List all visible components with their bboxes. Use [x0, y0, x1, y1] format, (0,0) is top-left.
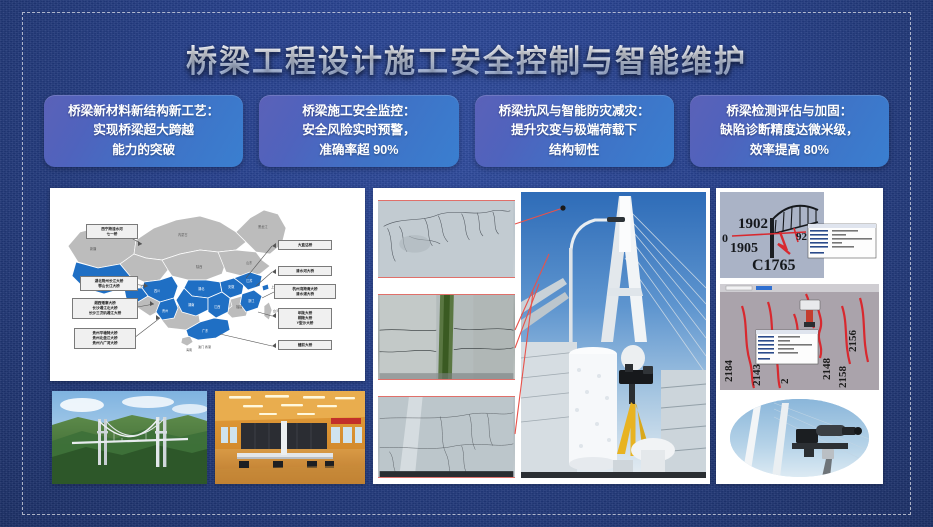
card-wind-disaster[interactable]: 桥梁抗风与智能防灾减灾： 提升灾变与极端荷载下 结构韧性: [475, 95, 674, 167]
crack-tile-2-svg: [378, 295, 515, 379]
svg-text:江苏: 江苏: [246, 278, 253, 283]
svg-text:广东: 广东: [202, 328, 208, 333]
svg-text:1902: 1902: [738, 216, 768, 232]
svg-text:贵州: 贵州: [162, 308, 168, 313]
measurement-tile-2-svg: 2184 2143 2 2148 2156 2158: [720, 284, 879, 390]
svg-text:2184: 2184: [723, 360, 735, 383]
card-wind-disaster-text: 桥梁抗风与智能防灾减灾： 提升灾变与极端荷载下 结构韧性: [499, 102, 650, 159]
summary-cards-row: 桥梁新材料新结构新工艺： 实现桥梁超大跨越 能力的突破 桥梁施工安全监控： 安全…: [44, 95, 889, 167]
crack-tile-3: [378, 396, 515, 478]
card-inspection-text: 桥梁检测评估与加固： 缺陷诊断精度达微米级， 效率提高 80%: [720, 102, 859, 159]
svg-text:湖北: 湖北: [198, 286, 205, 291]
callout-hangzhouwan: 杭州湾跨海大桥 清水浦大桥: [274, 284, 336, 299]
content-area: 新疆 内蒙古 黑龙江 陕西 山东 福建 西藏 四川 湖北 湖南 贵州 广东: [50, 188, 883, 484]
svg-text:2143: 2143: [751, 364, 763, 387]
cable-stayed-pylon-photo: [521, 192, 706, 478]
callout-changsha: 湘西矮寨大桥 长沙湘江北大桥 长沙三汊矶湘江大桥: [72, 298, 138, 319]
lab-photo-svg: [215, 391, 365, 484]
svg-text:2158: 2158: [837, 366, 849, 389]
svg-text:湖南: 湖南: [188, 302, 194, 307]
card-inspection[interactable]: 桥梁检测评估与加固： 缺陷诊断精度达微米级， 效率提高 80%: [690, 95, 889, 167]
svg-text:福建: 福建: [236, 304, 243, 309]
pylon-photo-svg: [521, 192, 706, 478]
svg-text:陕西: 陕西: [196, 264, 202, 269]
svg-text:92: 92: [796, 231, 808, 243]
callout-dazhi: 大直沽桥: [278, 240, 332, 250]
structural-test-hall-photo: [215, 391, 365, 484]
callout-nianpan: 年陡大桥 桐陵大桥 Y型沙大桥: [278, 308, 332, 329]
crack-tiles-column: [378, 196, 518, 478]
svg-text:江西: 江西: [214, 304, 220, 309]
svg-text:浙江: 浙江: [248, 298, 255, 303]
bridge-camera-oval-photo: [730, 399, 869, 477]
svg-text:山东: 山东: [246, 260, 252, 265]
slide-root: 桥梁工程设计施工安全控制与智能维护 桥梁新材料新结构新工艺： 实现桥梁超大跨越 …: [0, 0, 933, 527]
measurement-tile-1: 1902 0 1905 C1765 92: [720, 192, 879, 278]
measurement-tile-1-svg: 1902 0 1905 C1765 92: [720, 192, 879, 278]
crack-tile-2: [378, 294, 515, 380]
svg-text:四川: 四川: [154, 289, 160, 293]
card-construction-safety-text: 桥梁施工安全监控： 安全风险实时预警， 准确率超 90%: [302, 102, 415, 159]
svg-text:2: 2: [779, 378, 791, 384]
svg-text:C1765: C1765: [752, 257, 796, 274]
aixhai-suspension-bridge-photo: [52, 391, 207, 484]
card-materials-text: 桥梁新材料新结构新工艺： 实现桥梁超大跨越 能力的突破: [68, 102, 219, 159]
svg-text:安徽: 安徽: [228, 284, 235, 289]
svg-text:0: 0: [722, 231, 728, 245]
crack-detection-panel: [373, 188, 710, 484]
china-bridge-distribution-map: 新疆 内蒙古 黑龙江 陕西 山东 福建 西藏 四川 湖北 湖南 贵州 广东: [50, 188, 365, 381]
callout-ximen: 鳍前大桥: [278, 340, 332, 350]
svg-text:2156: 2156: [847, 330, 859, 353]
map-inner: 新疆 内蒙古 黑龙江 陕西 山东 福建 西藏 四川 湖北 湖南 贵州 广东: [50, 188, 365, 381]
callout-guizhou: 贵州平塘特大桥 贵州北盘江大桥 贵州六广河大桥: [74, 328, 136, 349]
svg-text:内蒙古: 内蒙古: [178, 232, 188, 237]
defect-measurement-panel: 1902 0 1905 C1765 92: [716, 188, 883, 484]
bridge-photo-svg: [52, 391, 207, 484]
page-title: 桥梁工程设计施工安全控制与智能维护: [186, 36, 747, 81]
svg-text:海南: 海南: [186, 347, 192, 352]
camera-photo-svg: [730, 399, 869, 477]
crack-tile-3-svg: [378, 397, 515, 477]
svg-text:1905: 1905: [730, 241, 758, 256]
svg-text:新疆: 新疆: [90, 246, 97, 251]
crack-tile-1: [378, 200, 515, 278]
svg-text:澳门 香港: 澳门 香港: [198, 344, 211, 349]
callout-xining: 西宁跨湟水河 七一桥: [86, 224, 138, 239]
measurement-tile-3: [720, 396, 879, 480]
svg-text:2148: 2148: [821, 358, 833, 381]
title-container: 桥梁工程设计施工安全控制与智能维护: [0, 36, 933, 81]
card-materials[interactable]: 桥梁新材料新结构新工艺： 实现桥梁超大跨越 能力的突破: [44, 95, 243, 167]
svg-text:黑龙江: 黑龙江: [258, 224, 268, 229]
card-construction-safety[interactable]: 桥梁施工安全监控： 安全风险实时预警， 准确率超 90%: [259, 95, 458, 167]
measurement-tile-2: 2184 2143 2 2148 2156 2158: [720, 284, 879, 390]
callout-qingshuihe: 清水河大桥: [278, 266, 332, 276]
crack-tile-1-svg: [378, 201, 515, 277]
callout-hubei: 湖北荆州长江大桥 鄂山长江大桥: [80, 276, 138, 291]
